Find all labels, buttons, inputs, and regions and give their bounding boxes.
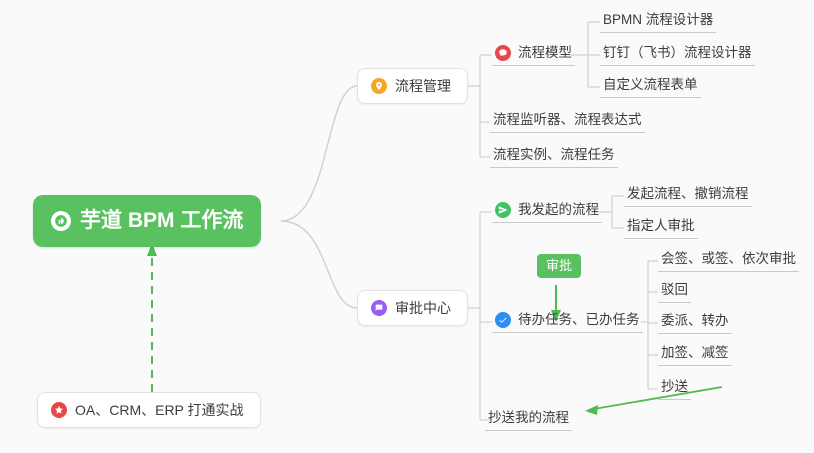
node-label: 流程监听器、流程表达式 bbox=[493, 110, 642, 130]
location-pin-icon bbox=[371, 78, 387, 94]
send-icon bbox=[495, 202, 511, 218]
node-label: 流程实例、流程任务 bbox=[493, 145, 615, 165]
node-add-remove-sign[interactable]: 加签、减签 bbox=[658, 344, 732, 366]
node-label: 钉钉（飞书）流程设计器 bbox=[603, 43, 752, 63]
node-bpmn-designer[interactable]: BPMN 流程设计器 bbox=[600, 11, 716, 33]
root-node[interactable]: 芋道 BPM 工作流 bbox=[33, 195, 261, 247]
thumbs-up-icon bbox=[51, 211, 71, 231]
node-label: 驳回 bbox=[661, 280, 688, 300]
node-label: 加签、减签 bbox=[661, 343, 729, 363]
node-label: 会签、或签、依次审批 bbox=[661, 249, 796, 269]
node-assign-approver[interactable]: 指定人审批 bbox=[624, 217, 698, 239]
chat-icon bbox=[371, 300, 387, 316]
node-cc-to-me[interactable]: 抄送我的流程 bbox=[485, 409, 572, 431]
node-label: 指定人审批 bbox=[627, 216, 695, 236]
node-start-cancel-process[interactable]: 发起流程、撤销流程 bbox=[624, 185, 752, 207]
node-custom-form[interactable]: 自定义流程表单 bbox=[600, 76, 701, 98]
footer-note[interactable]: OA、CRM、ERP 打通实战 bbox=[37, 392, 261, 428]
node-reject[interactable]: 驳回 bbox=[658, 281, 691, 303]
node-process-model[interactable]: 流程模型 bbox=[492, 44, 575, 66]
node-label: 我发起的流程 bbox=[518, 200, 599, 220]
node-delegate-transfer[interactable]: 委派、转办 bbox=[658, 312, 732, 334]
node-label: 抄送我的流程 bbox=[488, 408, 569, 428]
branch-node-process-management[interactable]: 流程管理 bbox=[357, 68, 468, 104]
branch-label: 流程管理 bbox=[395, 69, 451, 103]
node-countersign[interactable]: 会签、或签、依次审批 bbox=[658, 250, 799, 272]
message-icon bbox=[495, 45, 511, 61]
mindmap-canvas: 芋道 BPM 工作流 流程管理 流程模型 BPMN 流程设计器 钉钉（飞书）流程… bbox=[0, 0, 814, 453]
branch-label: 审批中心 bbox=[395, 291, 451, 325]
node-label: 流程模型 bbox=[518, 43, 572, 63]
root-label: 芋道 BPM 工作流 bbox=[80, 195, 243, 247]
tag-approval[interactable]: 审批 bbox=[537, 254, 581, 278]
node-label: 抄送 bbox=[661, 377, 688, 397]
node-label: BPMN 流程设计器 bbox=[603, 10, 713, 30]
node-cc[interactable]: 抄送 bbox=[658, 378, 691, 400]
node-label: 发起流程、撤销流程 bbox=[627, 184, 749, 204]
node-my-initiated-process[interactable]: 我发起的流程 bbox=[492, 201, 602, 223]
node-instance-task[interactable]: 流程实例、流程任务 bbox=[490, 146, 618, 168]
node-dingtalk-designer[interactable]: 钉钉（飞书）流程设计器 bbox=[600, 44, 755, 66]
node-label: 自定义流程表单 bbox=[603, 75, 698, 95]
task-icon bbox=[495, 312, 511, 328]
node-label: 待办任务、已办任务 bbox=[518, 310, 640, 330]
footer-note-label: OA、CRM、ERP 打通实战 bbox=[75, 393, 244, 427]
star-icon bbox=[51, 402, 67, 418]
node-label: 委派、转办 bbox=[661, 311, 729, 331]
branch-node-approval-center[interactable]: 审批中心 bbox=[357, 290, 468, 326]
node-todo-done-tasks[interactable]: 待办任务、已办任务 bbox=[492, 311, 643, 333]
node-listener-expression[interactable]: 流程监听器、流程表达式 bbox=[490, 111, 645, 133]
